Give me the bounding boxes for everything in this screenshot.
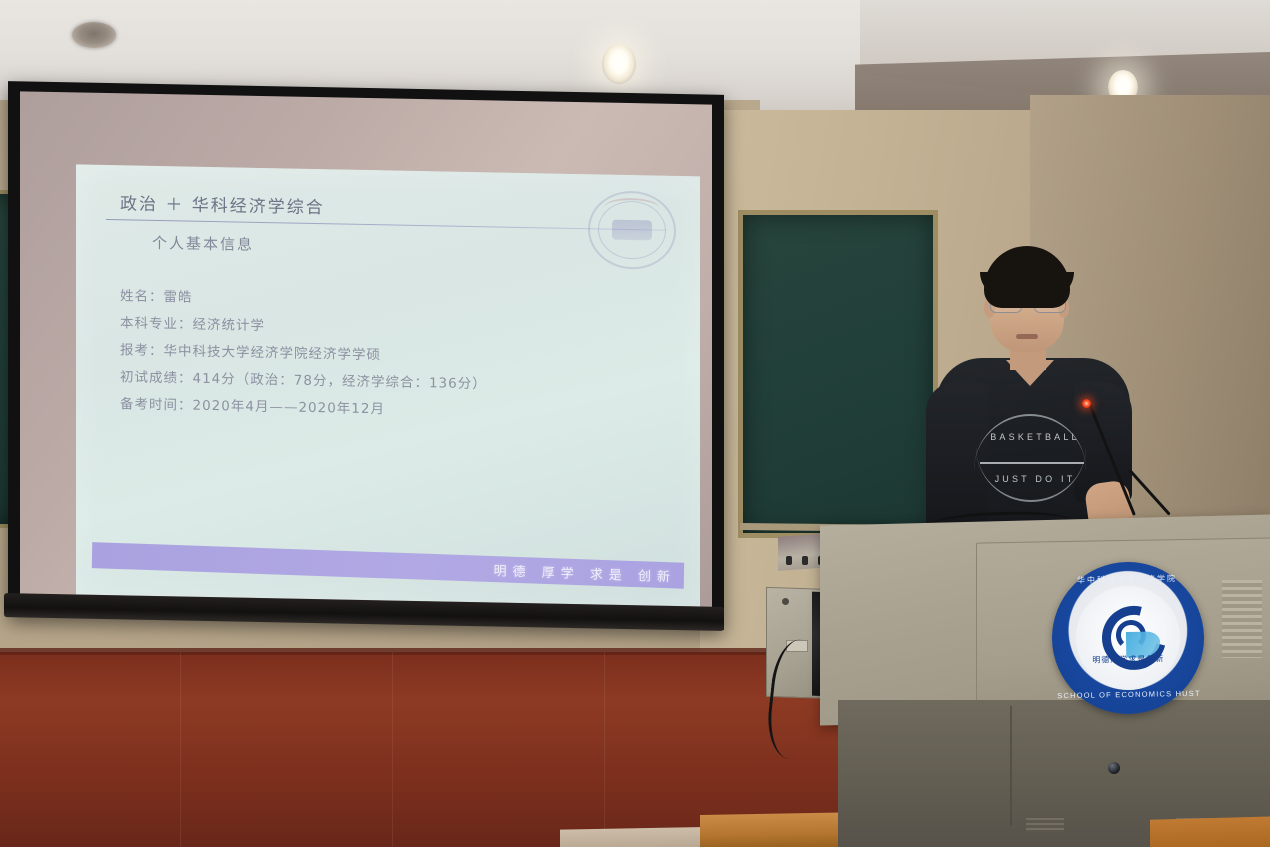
slide-title-divider xyxy=(106,219,666,231)
podium-vent-grille xyxy=(1222,580,1262,658)
microphone-led-indicator xyxy=(1082,399,1091,408)
downlight-off-icon xyxy=(72,22,116,48)
emblem-chinese-top: 华中科技大学经济学院 xyxy=(1051,573,1203,587)
shirt-text-bottom: JUST DO IT xyxy=(992,474,1078,484)
slide-footer-banner: 明德 厚学 求是 创新 xyxy=(92,542,684,589)
presenter-mouth xyxy=(1016,334,1038,339)
floor-plank-line xyxy=(180,652,181,847)
presentation-slide: 政治 ＋ 华科经济学综合 个人基本信息 姓名：雷皓 本科专业：经济统计学 报考：… xyxy=(76,164,700,606)
presenter-hair xyxy=(984,246,1070,308)
school-of-economics-emblem: 华中科技大学经济学院 明德厚学求是创新 SCHOOL OF ECONOMICS … xyxy=(1051,561,1206,716)
seal-arc xyxy=(604,198,660,219)
wooden-desk-right xyxy=(1150,816,1270,847)
downlight-on-icon xyxy=(602,44,636,84)
blackboard-right xyxy=(738,210,938,538)
podium-lock-knob[interactable] xyxy=(1108,762,1120,774)
lecture-hall-photo: 政治 ＋ 华科经济学综合 个人基本信息 姓名：雷皓 本科专业：经济统计学 报考：… xyxy=(0,0,1270,847)
shirt-text-top: BASKETBALL xyxy=(990,432,1080,442)
slide-subtitle: 个人基本信息 xyxy=(152,232,254,255)
presenter: BASKETBALL JUST DO IT xyxy=(918,246,1180,546)
hust-seal-watermark-icon xyxy=(588,190,676,270)
emblem-chinese-motto: 明德厚学求是创新 xyxy=(1052,653,1204,667)
stage-floor-edge xyxy=(0,648,840,655)
equipment-box-lock-icon[interactable] xyxy=(782,598,789,605)
floor-plank-line xyxy=(392,652,393,847)
podium-vent-small xyxy=(1026,818,1064,832)
slide-body: 姓名：雷皓 本科专业：经济统计学 报考：华中科技大学经济学院经济学学硕 初试成绩… xyxy=(120,283,660,428)
slide-motto: 明德 厚学 求是 创新 xyxy=(493,560,684,586)
projection-screen: 政治 ＋ 华科经济学综合 个人基本信息 姓名：雷皓 本科专业：经济统计学 报考：… xyxy=(8,81,724,630)
podium-panel-seam xyxy=(1010,706,1012,826)
seal-core xyxy=(612,220,652,241)
floor-plank-line xyxy=(604,652,605,847)
slide-title: 政治 ＋ 华科经济学综合 xyxy=(120,189,325,218)
screen-surface: 政治 ＋ 华科经济学综合 个人基本信息 姓名：雷皓 本科专业：经济统计学 报考：… xyxy=(20,91,712,616)
